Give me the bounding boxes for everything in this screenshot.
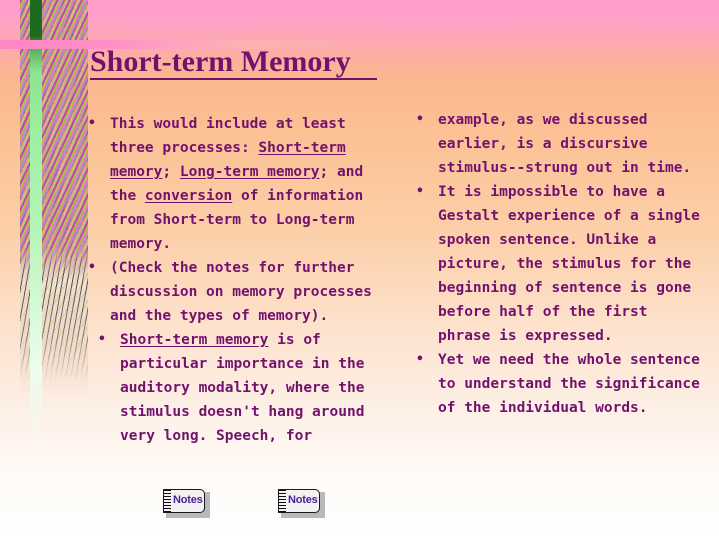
bullet-text: (Check the notes for further discussion …	[110, 256, 398, 328]
right-content-column: • example, as we discussed earlier, is a…	[416, 108, 708, 420]
green-accent-stripe	[30, 0, 42, 445]
bullet-marker-icon: •	[416, 348, 438, 372]
bullet-item: • Yet we need the whole sentence to unde…	[416, 348, 708, 420]
bullet-text: example, as we discussed earlier, is a d…	[438, 108, 708, 180]
texture-noise-fade-layer	[20, 0, 88, 400]
notes-button-label: Notes	[288, 493, 318, 508]
bullet-marker-icon: •	[88, 112, 110, 136]
bullet-item: • This would include at least three proc…	[88, 112, 398, 256]
bullet-marker-icon: •	[98, 328, 120, 352]
bullet-text: This would include at least three proces…	[110, 112, 398, 256]
bullet-text: Yet we need the whole sentence to unders…	[438, 348, 708, 420]
slide-canvas: Short-term Memory • This would include a…	[0, 0, 719, 539]
texture-noise-layer	[20, 0, 88, 400]
spiral-binding-icon	[279, 490, 286, 512]
bullet-item: • It is impossible to have a Gestalt exp…	[416, 180, 708, 348]
bullet-marker-icon: •	[88, 256, 110, 280]
notes-button[interactable]: Notes	[278, 489, 322, 515]
bullet-item: • Short-term memory is of particular imp…	[98, 328, 398, 448]
bullet-item: • (Check the notes for further discussio…	[88, 256, 398, 328]
spiral-binding-icon	[164, 490, 171, 512]
slide-title: Short-term Memory	[90, 46, 351, 78]
bullet-marker-icon: •	[416, 108, 438, 132]
notes-button[interactable]: Notes	[163, 489, 207, 515]
left-content-column: • This would include at least three proc…	[88, 112, 398, 448]
bullet-text: Short-term memory is of particular impor…	[120, 328, 398, 448]
decorative-texture-band	[20, 0, 88, 400]
title-underline-rule	[90, 78, 377, 80]
notes-button-label: Notes	[173, 493, 203, 508]
bullet-text: It is impossible to have a Gestalt exper…	[438, 180, 708, 348]
bullet-item: • example, as we discussed earlier, is a…	[416, 108, 708, 180]
bullet-marker-icon: •	[416, 180, 438, 204]
